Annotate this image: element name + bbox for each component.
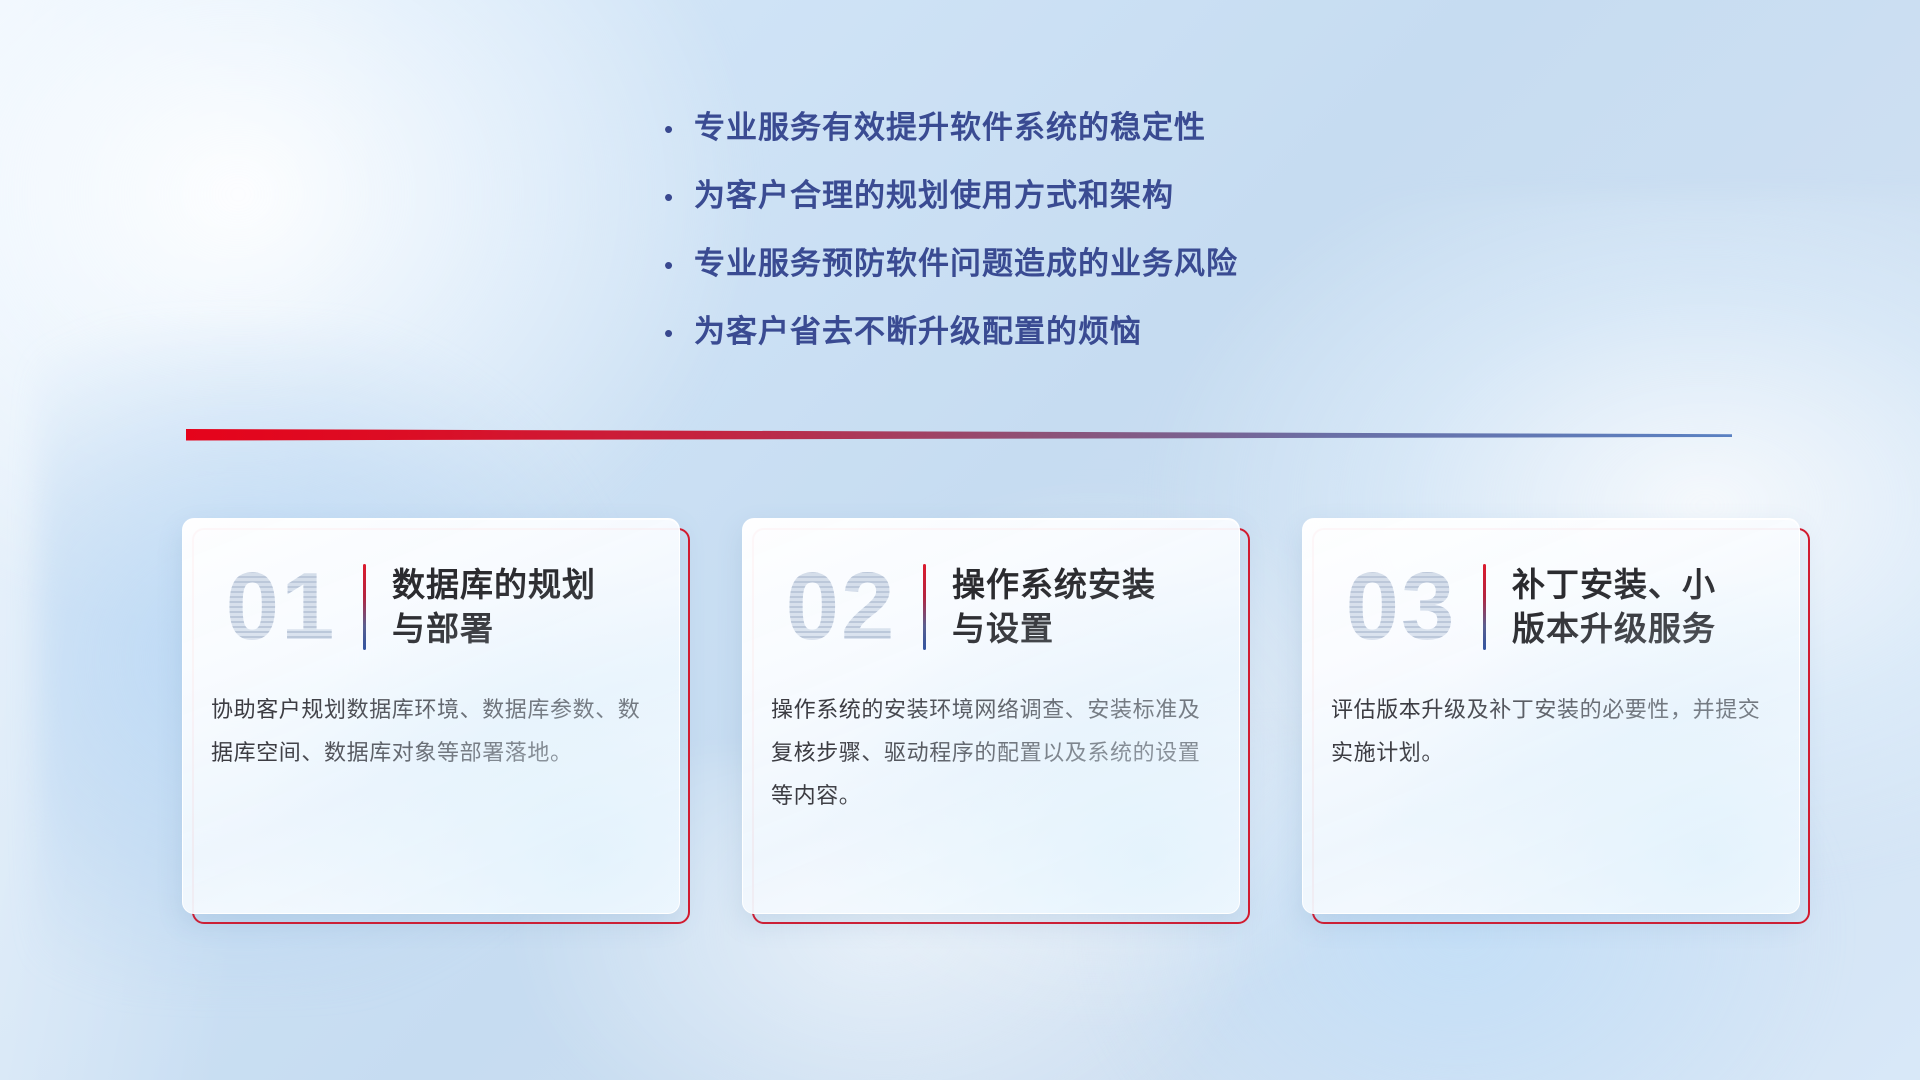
card-description: 评估版本升级及补丁安装的必要性，并提交实施计划。 bbox=[1303, 671, 1799, 775]
card-description: 操作系统的安装环境网络调查、安装标准及复核步骤、驱动程序的配置以及系统的设置等内… bbox=[743, 671, 1239, 818]
bullet-label: 专业服务预防软件问题造成的业务风险 bbox=[694, 246, 1238, 282]
list-item: • 专业服务有效提升软件系统的稳定性 bbox=[660, 110, 1420, 148]
service-card[interactable]: 03 补丁安装、小 版本升级服务 评估版本升级及补丁安装的必要性，并提交实施计划… bbox=[1302, 518, 1800, 914]
benefits-bullet-list: • 专业服务有效提升软件系统的稳定性 • 为客户合理的规划使用方式和架构 • 专… bbox=[660, 110, 1420, 382]
bullet-dot-icon: • bbox=[660, 184, 694, 210]
card-header: 02 操作系统安装 与设置 bbox=[743, 519, 1239, 671]
bullet-dot-icon: • bbox=[660, 252, 694, 278]
card-divider-bar-icon bbox=[363, 564, 366, 650]
bullet-dot-icon: • bbox=[660, 320, 694, 346]
list-item: • 专业服务预防软件问题造成的业务风险 bbox=[660, 246, 1420, 284]
card-surface: 03 补丁安装、小 版本升级服务 评估版本升级及补丁安装的必要性，并提交实施计划… bbox=[1302, 518, 1800, 914]
card-description: 协助客户规划数据库环境、数据库参数、数据库空间、数据库对象等部署落地。 bbox=[183, 671, 679, 775]
card-header: 03 补丁安装、小 版本升级服务 bbox=[1303, 519, 1799, 671]
service-card-list: 01 数据库的规划 与部署 协助客户规划数据库环境、数据库参数、数据库空间、数据… bbox=[182, 518, 1802, 930]
card-number-watermark: 01 bbox=[205, 551, 357, 663]
card-divider-bar-icon bbox=[923, 564, 926, 650]
service-card[interactable]: 02 操作系统安装 与设置 操作系统的安装环境网络调查、安装标准及复核步骤、驱动… bbox=[742, 518, 1240, 914]
list-item: • 为客户合理的规划使用方式和架构 bbox=[660, 178, 1420, 216]
card-header: 01 数据库的规划 与部署 bbox=[183, 519, 679, 671]
divider-wedge-icon bbox=[186, 425, 1732, 447]
list-item: • 为客户省去不断升级配置的烦恼 bbox=[660, 314, 1420, 352]
card-title: 操作系统安装 与设置 bbox=[952, 563, 1156, 650]
bullet-label: 为客户省去不断升级配置的烦恼 bbox=[694, 314, 1142, 350]
card-surface: 01 数据库的规划 与部署 协助客户规划数据库环境、数据库参数、数据库空间、数据… bbox=[182, 518, 680, 914]
card-number-watermark: 02 bbox=[765, 551, 917, 663]
card-title: 数据库的规划 与部署 bbox=[392, 563, 596, 650]
card-title: 补丁安装、小 版本升级服务 bbox=[1512, 563, 1716, 650]
service-card[interactable]: 01 数据库的规划 与部署 协助客户规划数据库环境、数据库参数、数据库空间、数据… bbox=[182, 518, 680, 914]
card-divider-bar-icon bbox=[1483, 564, 1486, 650]
card-number-watermark: 03 bbox=[1325, 551, 1477, 663]
bullet-label: 为客户合理的规划使用方式和架构 bbox=[694, 178, 1174, 214]
bullet-dot-icon: • bbox=[660, 116, 694, 142]
bullet-label: 专业服务有效提升软件系统的稳定性 bbox=[694, 110, 1206, 146]
card-surface: 02 操作系统安装 与设置 操作系统的安装环境网络调查、安装标准及复核步骤、驱动… bbox=[742, 518, 1240, 914]
section-divider bbox=[186, 425, 1732, 447]
